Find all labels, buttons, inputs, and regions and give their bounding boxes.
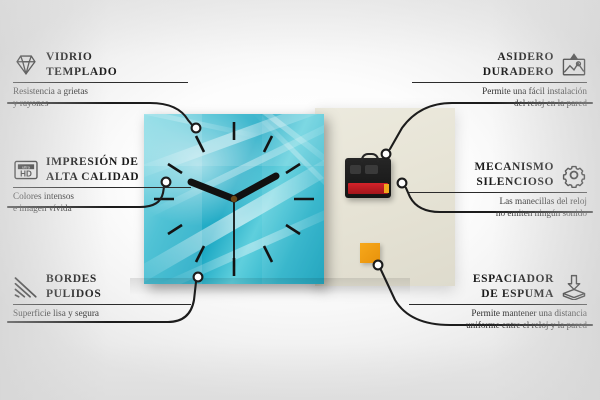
feature-description: Permite una fácil instalación del reloj … [412,86,587,109]
node-asidero [382,150,391,159]
divider [13,187,191,188]
divider [13,304,191,305]
feature-title: ASIDERO [483,50,554,65]
node-mecanismo [398,179,407,188]
svg-text:HD: HD [20,169,32,178]
picture-hanger-icon [561,52,587,78]
feature-title: ALTA CALIDAD [46,170,139,185]
feature-espaciador-de-espuma: ESPACIADOR DE ESPUMA Permite mantener un… [409,272,587,332]
arrow-down-pad-icon [561,274,587,300]
feature-title: DE ESPUMA [473,287,554,302]
feature-title: SILENCIOSO [474,175,554,190]
divider [13,82,188,83]
diamond-icon [13,52,39,78]
feature-title: BORDES [46,272,101,287]
divider [409,304,587,305]
feature-bordes-pulidos: BORDES PULIDOS Superficie lisa y segura [13,272,191,320]
node-bordes [194,273,203,282]
feature-asidero-duradero: ASIDERO DURADERO Permite una fácil insta… [412,50,587,110]
feature-title: IMPRESIÓN DE [46,155,139,170]
feature-description: Superficie lisa y segura [13,308,191,320]
ultra-hd-icon: ultra HD [13,157,39,183]
connector-asidero [390,103,592,149]
svg-text:ultra: ultra [22,164,31,169]
gear-icon [561,162,587,188]
infographic-canvas: VIDRIO TEMPLADO Resistencia a grietas y … [0,0,600,400]
diagonal-stripes-icon [13,274,39,300]
divider [412,82,587,83]
node-vidrio [192,124,201,133]
feature-description: Las manecillas del reloj no emiten ningú… [409,196,587,219]
feature-mecanismo-silencioso: MECANISMO SILENCIOSO Las manecillas del … [409,160,587,220]
feature-title: TEMPLADO [46,65,117,80]
feature-title: MECANISMO [474,160,554,175]
feature-title: ESPACIADOR [473,272,554,287]
node-espaciador [374,261,383,270]
feature-title: VIDRIO [46,50,117,65]
feature-description: Permite mantener una distancia uniforme … [409,308,587,331]
feature-title: DURADERO [483,65,554,80]
divider [409,192,587,193]
feature-title: PULIDOS [46,287,101,302]
feature-vidrio-templado: VIDRIO TEMPLADO Resistencia a grietas y … [13,50,188,110]
feature-impresion-alta-calidad: ultra HD IMPRESIÓN DE ALTA CALIDAD Color… [13,155,191,215]
feature-description: Resistencia a grietas y rayones [13,86,188,109]
feature-description: Colores intensos e imagen vívida [13,191,191,214]
